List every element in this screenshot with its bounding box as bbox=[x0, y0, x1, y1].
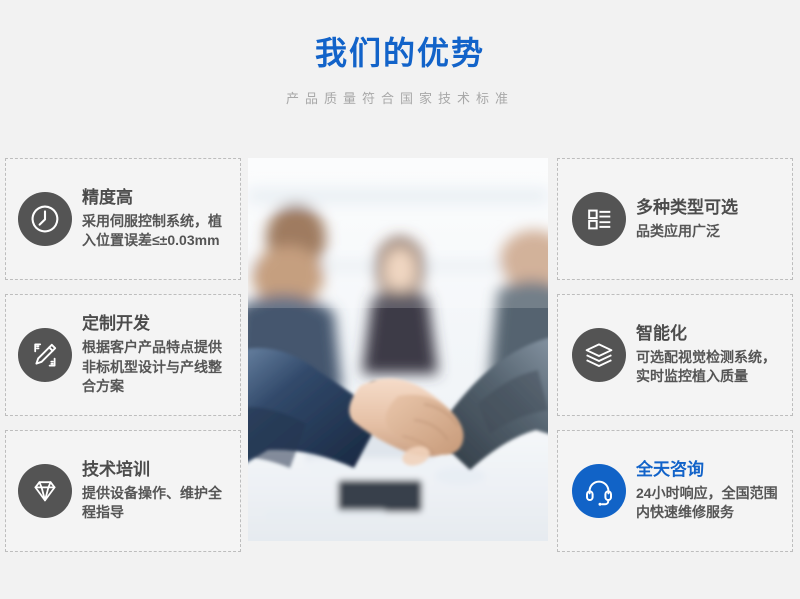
pencil-ruler-icon bbox=[18, 328, 72, 382]
feature-card-desc: 采用伺服控制系统，植入位置误差≤±0.03mm bbox=[82, 212, 234, 252]
feature-card-body: 智能化 可选配视觉检测系统，实时监控植入质量 bbox=[636, 323, 788, 388]
feature-card-title: 定制开发 bbox=[82, 313, 234, 336]
diamond-icon bbox=[18, 464, 72, 518]
layers-icon bbox=[572, 328, 626, 382]
feature-card-desc: 品类应用广泛 bbox=[636, 222, 788, 242]
feature-card-types[interactable]: 多种类型可选 品类应用广泛 bbox=[557, 158, 793, 280]
feature-card-title: 智能化 bbox=[636, 323, 788, 346]
feature-card-desc: 提供设备操作、维护全程指导 bbox=[82, 484, 234, 524]
feature-card-desc: 根据客户产品特点提供非标机型设计与产线整合方案 bbox=[82, 338, 234, 398]
feature-card-desc: 可选配视觉检测系统，实时监控植入质量 bbox=[636, 348, 788, 388]
feature-card-title: 多种类型可选 bbox=[636, 197, 788, 220]
right-feature-column: 多种类型可选 品类应用广泛 智能化 可选配视觉检测系统，实时监控植入质量 bbox=[557, 158, 793, 566]
advantages-section: 我们的优势 产品质量符合国家技术标准 精度高 采用伺服控制系统，植入位置误差≤±… bbox=[0, 0, 800, 599]
feature-card-precision[interactable]: 精度高 采用伺服控制系统，植入位置误差≤±0.03mm bbox=[5, 158, 241, 280]
feature-card-title: 全天咨询 bbox=[636, 459, 788, 482]
headset-icon bbox=[572, 464, 626, 518]
feature-card-intelligence[interactable]: 智能化 可选配视觉检测系统，实时监控植入质量 bbox=[557, 294, 793, 416]
feature-card-training[interactable]: 技术培训 提供设备操作、维护全程指导 bbox=[5, 430, 241, 552]
feature-card-title: 精度高 bbox=[82, 187, 234, 210]
feature-card-support[interactable]: 全天咨询 24小时响应，全国范围内快速维修服务 bbox=[557, 430, 793, 552]
page-title: 我们的优势 bbox=[0, 34, 800, 72]
clock-icon bbox=[18, 192, 72, 246]
business-handshake-photo bbox=[248, 158, 548, 541]
feature-card-custom-development[interactable]: 定制开发 根据客户产品特点提供非标机型设计与产线整合方案 bbox=[5, 294, 241, 416]
left-feature-column: 精度高 采用伺服控制系统，植入位置误差≤±0.03mm bbox=[5, 158, 241, 566]
feature-card-body: 定制开发 根据客户产品特点提供非标机型设计与产线整合方案 bbox=[82, 313, 234, 398]
list-layout-icon bbox=[572, 192, 626, 246]
section-header: 我们的优势 产品质量符合国家技术标准 bbox=[0, 34, 800, 107]
feature-card-body: 精度高 采用伺服控制系统，植入位置误差≤±0.03mm bbox=[82, 187, 234, 252]
feature-card-body: 多种类型可选 品类应用广泛 bbox=[636, 197, 788, 242]
feature-card-body: 技术培训 提供设备操作、维护全程指导 bbox=[82, 459, 234, 524]
feature-card-desc: 24小时响应，全国范围内快速维修服务 bbox=[636, 484, 788, 524]
feature-card-body: 全天咨询 24小时响应，全国范围内快速维修服务 bbox=[636, 459, 788, 524]
page-subtitle: 产品质量符合国家技术标准 bbox=[0, 88, 800, 107]
feature-card-title: 技术培训 bbox=[82, 459, 234, 482]
